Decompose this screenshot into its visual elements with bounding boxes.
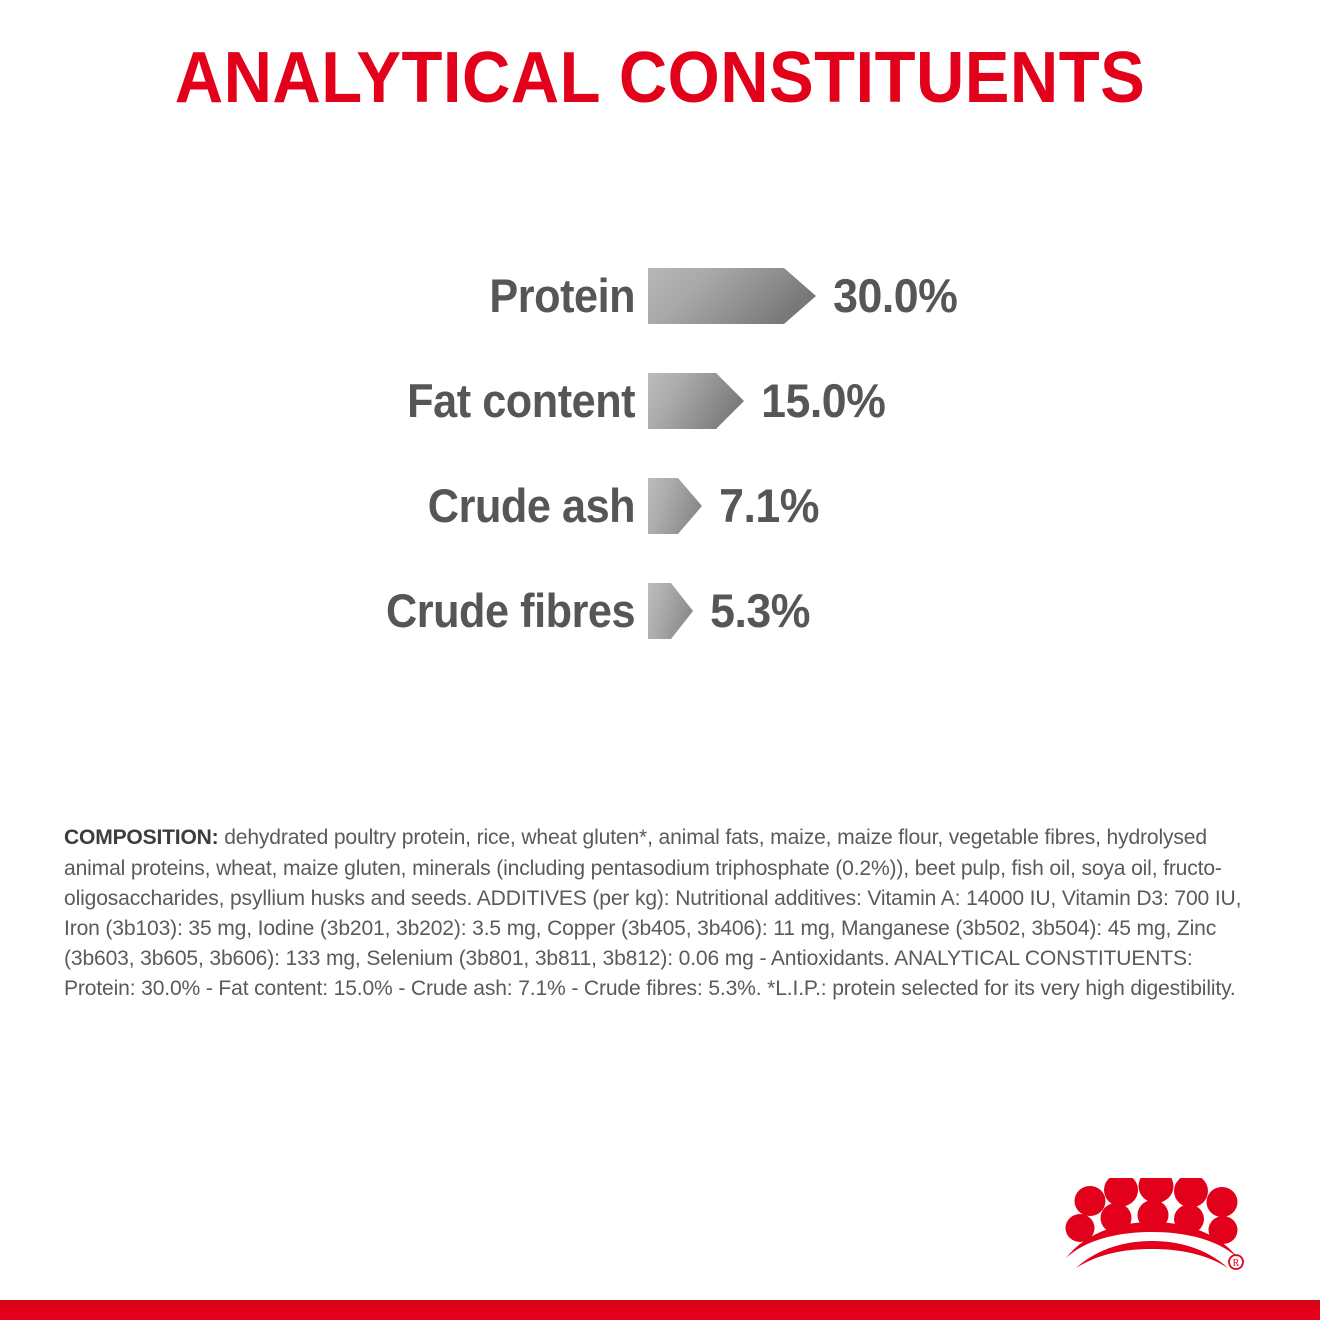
constituent-bar-crude-fibres (648, 583, 693, 639)
constituent-value-crude-fibres: 5.3% (693, 587, 810, 634)
svg-text:R: R (1233, 1258, 1240, 1269)
constituent-label-crude-ash: Crude ash (52, 482, 648, 529)
page-title: ANALYTICAL CONSTITUENTS (46, 42, 1274, 114)
chevron-bar-icon (648, 373, 744, 429)
chevron-bar-icon (648, 478, 702, 534)
constituent-label-crude-fibres: Crude fibres (52, 587, 648, 634)
constituent-bar-protein (648, 268, 816, 324)
constituent-row-fat-content: Fat content 15.0% (0, 348, 1320, 453)
bottom-accent-bar (0, 1300, 1320, 1320)
constituent-value-crude-ash: 7.1% (702, 482, 819, 529)
constituent-row-crude-ash: Crude ash 7.1% (0, 453, 1320, 558)
composition-heading: COMPOSITION: (64, 825, 218, 849)
crown-icon: R (1046, 1178, 1246, 1270)
constituent-bar-fat-content (648, 373, 744, 429)
constituent-row-crude-fibres: Crude fibres 5.3% (0, 558, 1320, 663)
constituent-value-protein: 30.0% (816, 272, 957, 319)
constituent-value-fat-content: 15.0% (744, 377, 885, 424)
composition-body: dehydrated poultry protein, rice, wheat … (64, 825, 1241, 1000)
registered-mark-icon: R (1229, 1255, 1243, 1269)
constituent-bar-crude-ash (648, 478, 702, 534)
constituent-label-fat-content: Fat content (52, 377, 648, 424)
composition-paragraph: COMPOSITION: dehydrated poultry protein,… (64, 822, 1242, 1003)
analytical-constituents-chart: Protein 30.0% Fat content (0, 243, 1320, 663)
royal-canin-logo: R (1046, 1178, 1246, 1270)
chevron-bar-icon (648, 268, 816, 324)
chevron-bar-icon (648, 583, 693, 639)
constituent-label-protein: Protein (52, 272, 648, 319)
constituent-row-protein: Protein 30.0% (0, 243, 1320, 348)
